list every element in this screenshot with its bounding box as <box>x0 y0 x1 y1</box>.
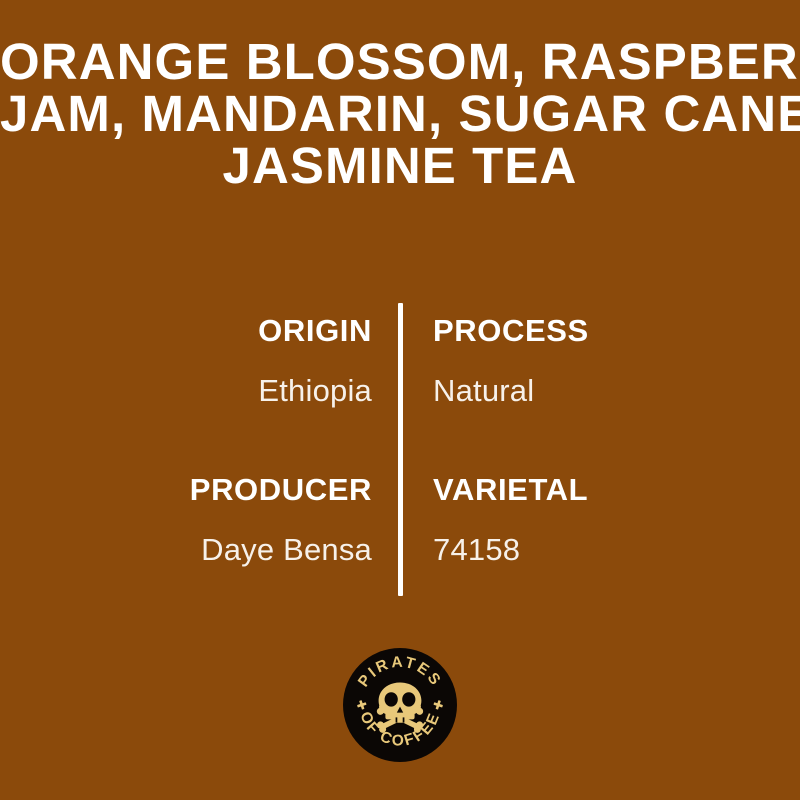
skull-jaw <box>392 718 409 723</box>
spec-value-varietal: 74158 <box>433 533 773 567</box>
spec-row: PRODUCER Daye Bensa VARIETAL 74158 <box>0 473 800 603</box>
spec-label-process: PROCESS <box>433 314 773 348</box>
tasting-notes-heading: ORANGE BLOSSOM, RASPBERRY JAM, MANDARIN,… <box>0 36 800 192</box>
tasting-note-line-2: JAM, MANDARIN, SUGAR CANE <box>0 88 800 140</box>
spec-value-origin: Ethiopia <box>32 374 372 408</box>
spec-value-process: Natural <box>433 374 773 408</box>
skull-eye-left <box>385 692 398 706</box>
pirates-of-coffee-logo: PIRATES OF COFFEE <box>343 648 457 762</box>
spec-row: ORIGIN Ethiopia PROCESS Natural <box>0 314 800 444</box>
spec-label-producer: PRODUCER <box>32 473 372 507</box>
spec-label-origin: ORIGIN <box>32 314 372 348</box>
spec-cell-varietal: VARIETAL 74158 <box>433 473 773 567</box>
spec-cell-origin: ORIGIN Ethiopia <box>32 314 372 408</box>
skull-teeth-gap <box>403 717 405 722</box>
skull-eye-right <box>402 692 415 706</box>
coffee-bag-label: ORANGE BLOSSOM, RASPBERRY JAM, MANDARIN,… <box>0 0 800 800</box>
tasting-note-line-3: JASMINE TEA <box>0 140 800 192</box>
skull-teeth-gap <box>396 717 398 722</box>
spec-cell-producer: PRODUCER Daye Bensa <box>32 473 372 567</box>
coffee-spec-grid: ORIGIN Ethiopia PROCESS Natural PRODUCER… <box>0 303 800 598</box>
spec-value-producer: Daye Bensa <box>32 533 372 567</box>
tasting-note-line-1: ORANGE BLOSSOM, RASPBERRY <box>0 36 800 88</box>
spec-label-varietal: VARIETAL <box>433 473 773 507</box>
spec-cell-process: PROCESS Natural <box>433 314 773 408</box>
